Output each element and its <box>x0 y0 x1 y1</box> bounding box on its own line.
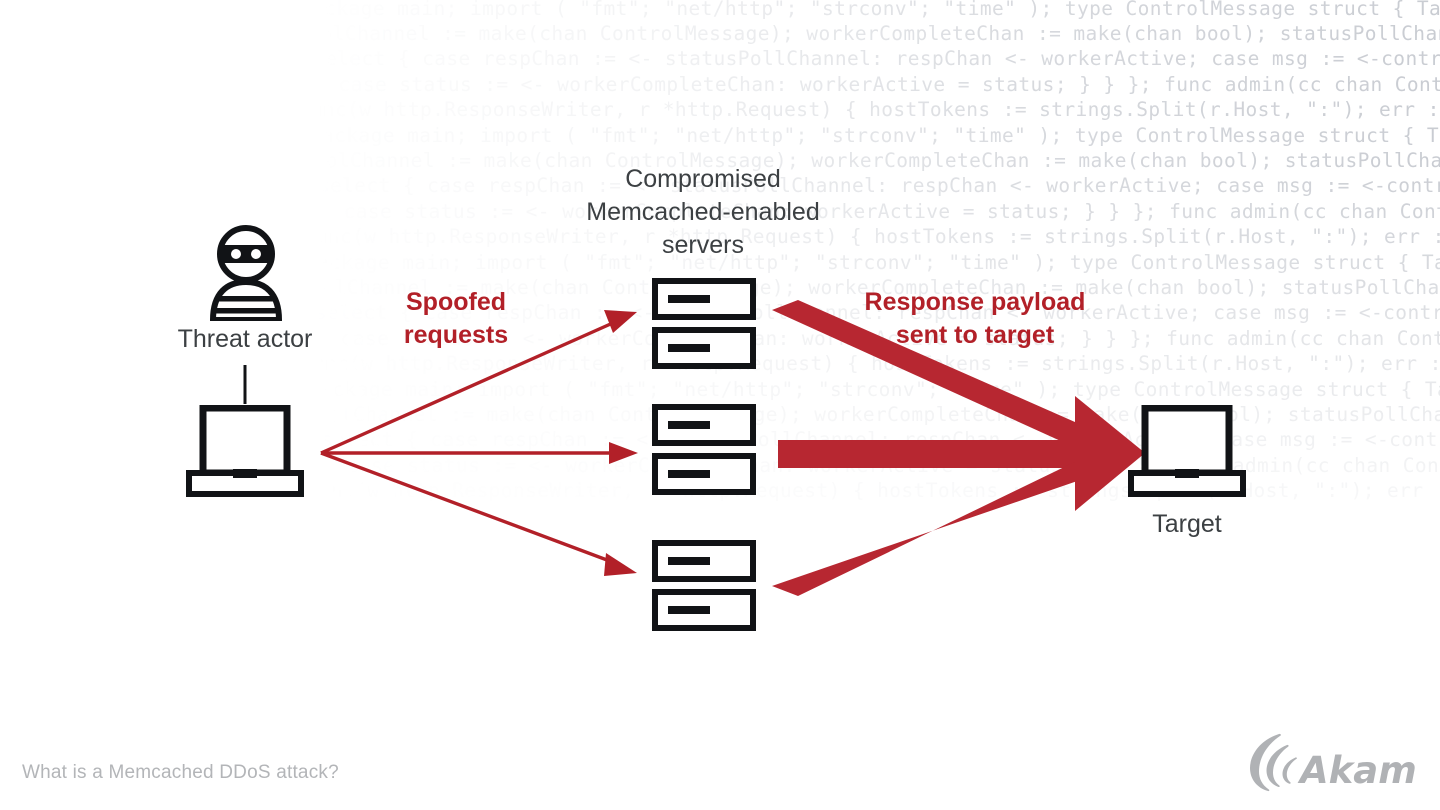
threat-actor-laptop-icon <box>186 405 304 497</box>
page-caption: What is a Memcached DDoS attack? <box>22 762 339 784</box>
target-label: Target <box>1087 508 1287 541</box>
server-icon <box>652 453 756 495</box>
response-payload-label: Response payload sent to target <box>844 286 1106 352</box>
server-icon <box>652 327 756 369</box>
server-icon <box>652 589 756 631</box>
svg-text:Akamai: Akamai <box>1297 749 1416 792</box>
server-icon <box>652 278 756 320</box>
server-icon <box>652 404 756 446</box>
spoofed-requests-label: Spoofed requests <box>356 286 556 352</box>
servers-group-label: Compromised Memcached-enabled servers <box>553 163 853 262</box>
target-laptop-icon <box>1128 405 1246 497</box>
server-icon <box>652 540 756 582</box>
akamai-logo: Akamai <box>1246 726 1416 794</box>
diagram-canvas: package main; import ( "fmt"; "net/http"… <box>0 0 1440 810</box>
